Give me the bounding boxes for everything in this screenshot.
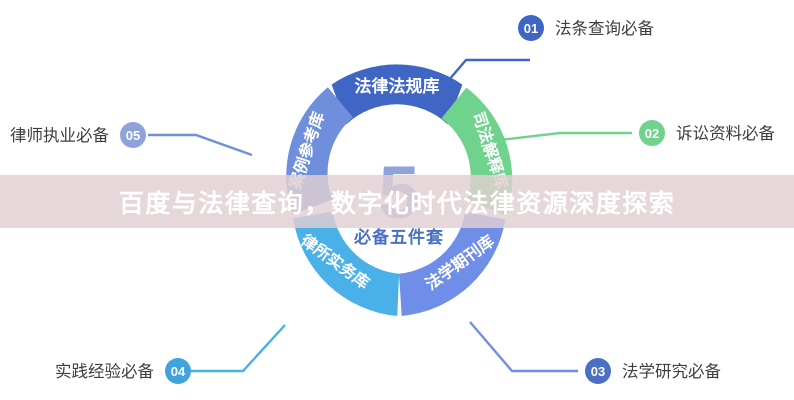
connector-line-04 [188, 325, 285, 371]
callout-badge-03-number: 03 [591, 364, 605, 379]
callout-label-04: 实践经验必备 [55, 362, 155, 381]
callout-01[interactable]: 01 法条查询必备 [518, 15, 655, 41]
center-number: 5 [378, 151, 419, 234]
infographic-stage: 法律法规库 司法解释库 法学期刊库 律所实务库 案例参考库 [0, 0, 794, 400]
callout-label-01: 法条查询必备 [555, 19, 655, 38]
connector-line-03 [470, 322, 578, 371]
callout-04[interactable]: 04 实践经验必备 [55, 358, 191, 384]
callout-label-02: 诉讼资料必备 [676, 124, 776, 143]
connector-line-02 [500, 133, 632, 140]
donut-center: 5 必备五件套 [353, 151, 444, 247]
donut-segment-02[interactable]: 司法解释库 [442, 88, 513, 216]
callout-label-05: 律师执业必备 [10, 126, 110, 145]
connector-line-05 [148, 135, 252, 155]
donut-slice-02[interactable] [442, 88, 513, 216]
donut-infographic: 法律法规库 司法解释库 法学期刊库 律所实务库 案例参考库 [0, 0, 794, 400]
callout-badge-02-number: 02 [645, 126, 659, 141]
callout-label-03: 法学研究必备 [622, 362, 722, 381]
callout-05[interactable]: 05 律师执业必备 [10, 122, 146, 148]
donut-slice-01-label: 法律法规库 [355, 76, 440, 96]
callout-badge-05-number: 05 [126, 128, 140, 143]
callout-badge-04-number: 04 [171, 364, 186, 379]
donut-slice-05[interactable] [286, 87, 353, 214]
callout-badge-01-number: 01 [524, 21, 538, 36]
donut-segment-05[interactable]: 案例参考库 [285, 87, 353, 214]
center-subtitle: 必备五件套 [353, 227, 444, 247]
callout-02[interactable]: 02 诉讼资料必备 [639, 120, 776, 146]
callout-03[interactable]: 03 法学研究必备 [585, 358, 722, 384]
